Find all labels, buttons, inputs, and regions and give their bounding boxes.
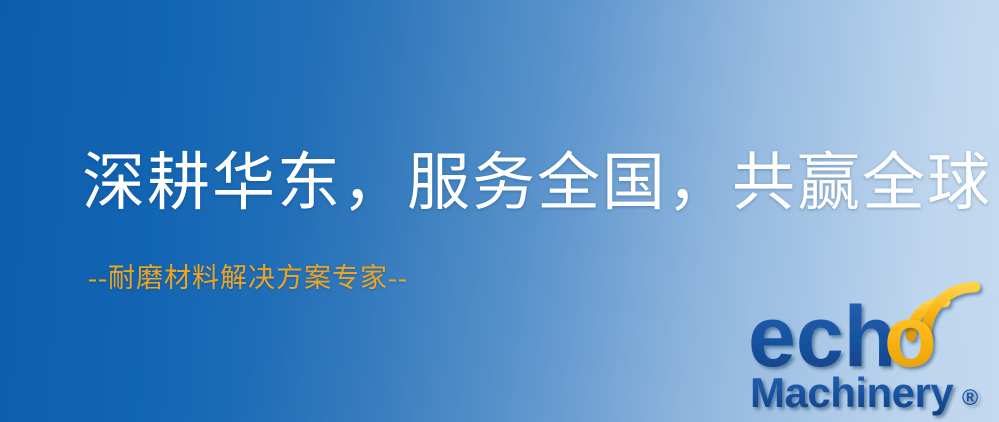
promo-banner: 深耕华东，服务全国，共赢全球 --耐磨材料解决方案专家-- — [0, 0, 999, 422]
logo-machinery-text: Machinery — [750, 369, 954, 416]
echo-machinery-logo[interactable]: ech o Machinery ® — [748, 292, 994, 420]
banner-headline: 深耕华东，服务全国，共赢全球 — [82, 152, 992, 215]
banner-subtitle: --耐磨材料解决方案专家-- — [88, 265, 408, 292]
logo-registered-mark: ® — [962, 385, 978, 410]
